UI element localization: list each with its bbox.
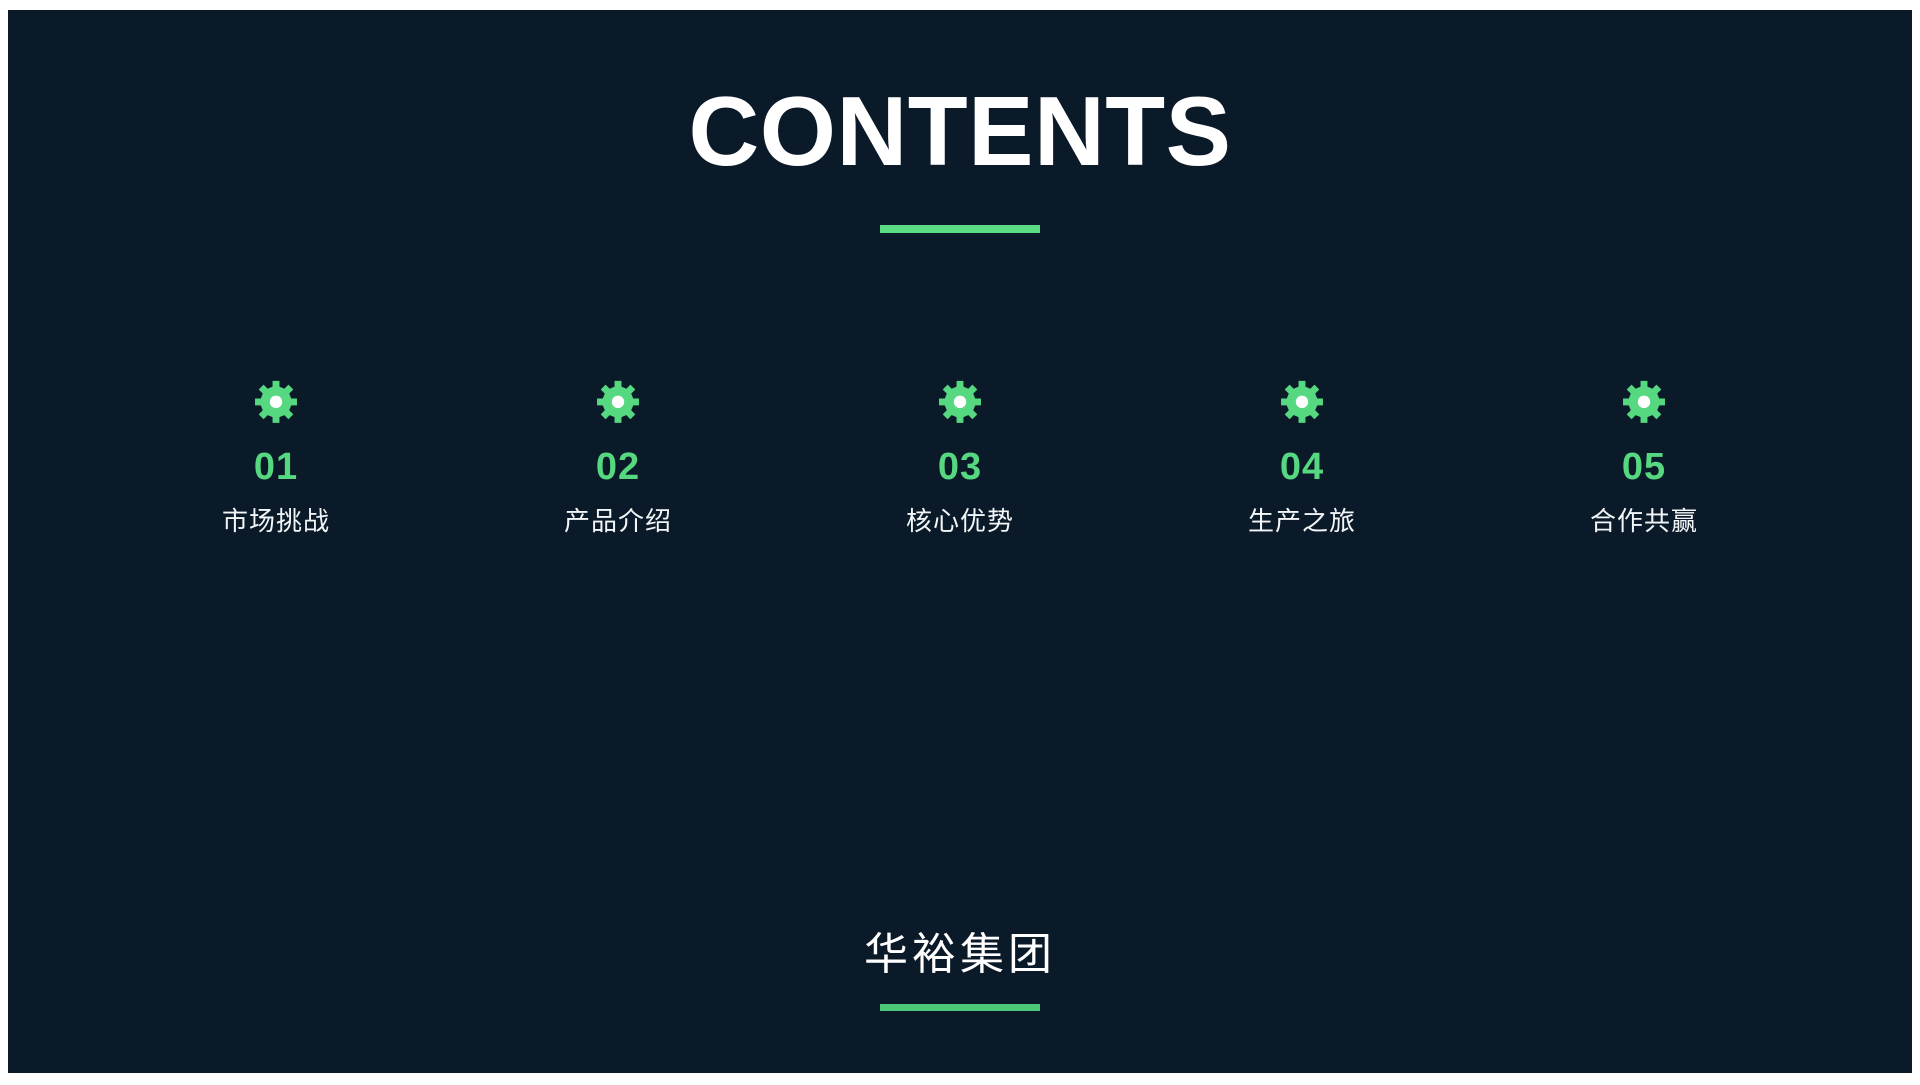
item-number: 03 bbox=[938, 448, 982, 486]
gear-icon bbox=[1279, 380, 1325, 426]
item-number: 04 bbox=[1280, 448, 1324, 486]
content-item-04[interactable]: 04 生产之旅 bbox=[1131, 380, 1473, 536]
contents-list: 01 市场挑战 02 产品介绍 03 核心优势 bbox=[8, 380, 1912, 536]
item-number: 05 bbox=[1622, 448, 1666, 486]
content-item-01[interactable]: 01 市场挑战 bbox=[105, 380, 447, 536]
gear-icon bbox=[595, 380, 641, 426]
footer-block: 华裕集团 bbox=[8, 930, 1912, 1011]
content-item-03[interactable]: 03 核心优势 bbox=[789, 380, 1131, 536]
item-label: 生产之旅 bbox=[1248, 507, 1356, 536]
item-label: 产品介绍 bbox=[564, 507, 672, 536]
item-number: 01 bbox=[254, 448, 298, 486]
company-name: 华裕集团 bbox=[8, 930, 1912, 981]
item-label: 核心优势 bbox=[906, 507, 1014, 536]
item-label: 合作共赢 bbox=[1590, 507, 1698, 536]
gear-icon bbox=[1621, 380, 1667, 426]
item-number: 02 bbox=[596, 448, 640, 486]
gear-icon bbox=[937, 380, 983, 426]
content-item-05[interactable]: 05 合作共赢 bbox=[1473, 380, 1815, 536]
content-item-02[interactable]: 02 产品介绍 bbox=[447, 380, 789, 536]
title-underline-rule bbox=[880, 225, 1040, 233]
slide-canvas: CONTENTS 01 市场挑战 02 产品介绍 bbox=[8, 10, 1912, 1073]
footer-underline-rule bbox=[880, 1004, 1040, 1011]
gear-icon bbox=[253, 380, 299, 426]
page-title: CONTENTS bbox=[8, 82, 1912, 180]
item-label: 市场挑战 bbox=[222, 507, 330, 536]
